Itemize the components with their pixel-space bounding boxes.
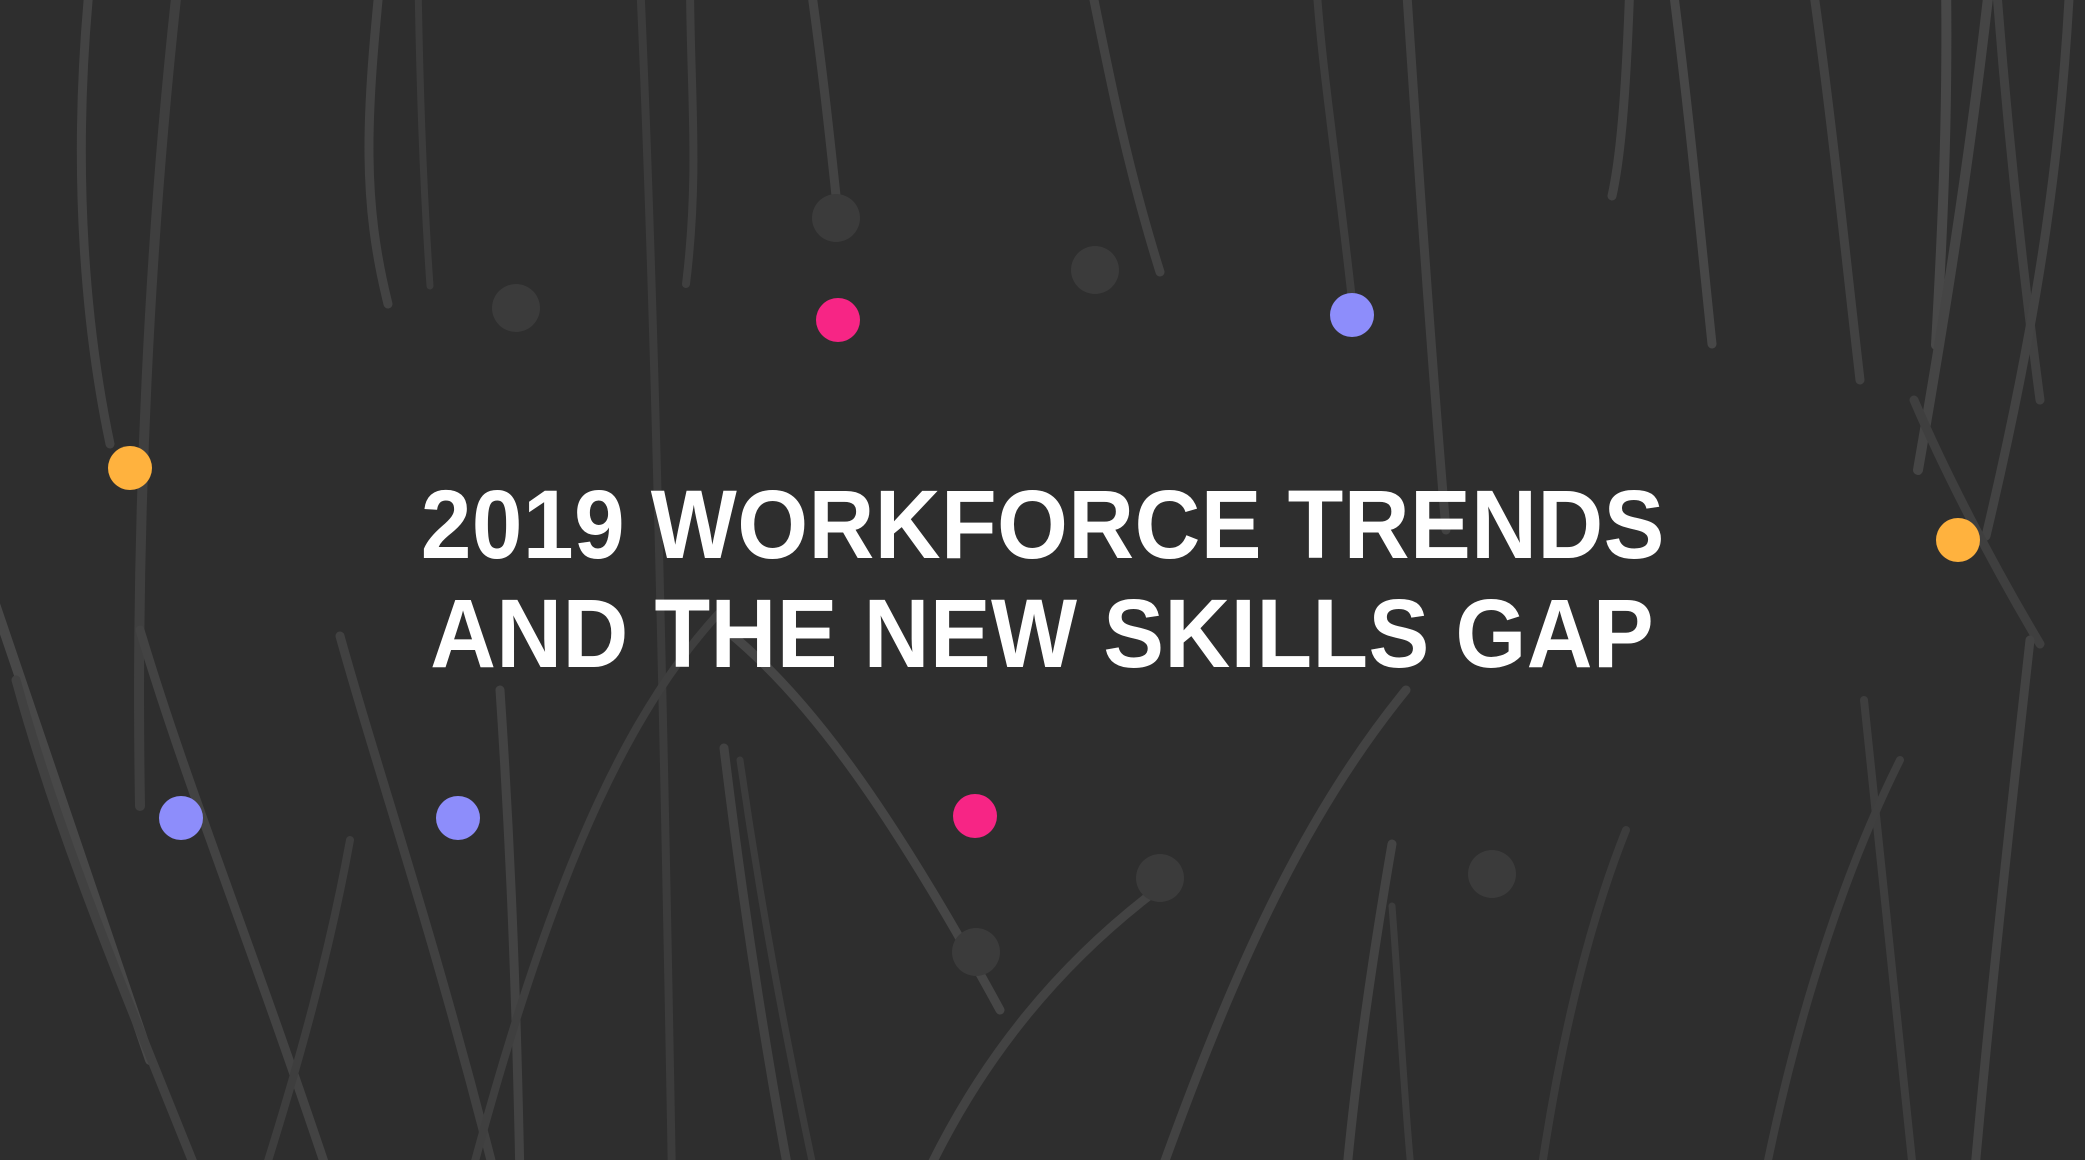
page-title-line-1: 2019 WORKFORCE TRENDS [420,471,1664,580]
page-title-line-2: AND THE NEW SKILLS GAP [430,580,1654,689]
title-slide: 2019 WORKFORCE TRENDS AND THE NEW SKILLS… [0,0,2085,1160]
title-block: 2019 WORKFORCE TRENDS AND THE NEW SKILLS… [0,0,2085,1160]
